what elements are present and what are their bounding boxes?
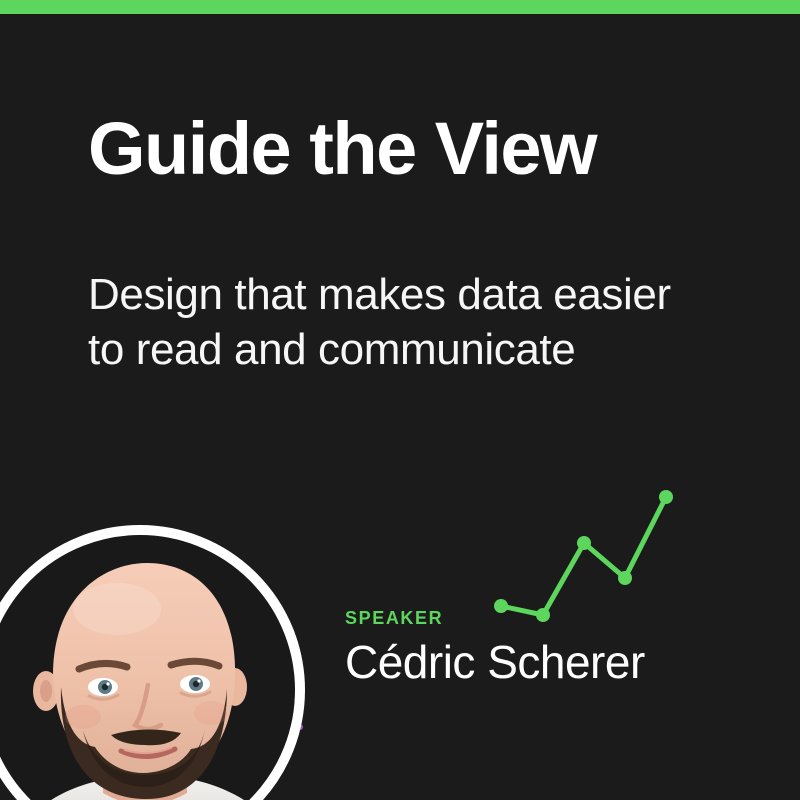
chart-point	[618, 571, 632, 585]
presentation-slide: Guide the View Design that makes data ea…	[0, 0, 800, 800]
avatar	[0, 525, 305, 800]
avatar-ring	[0, 525, 305, 800]
speaker-label: SPEAKER	[345, 608, 765, 629]
chart-point	[577, 536, 591, 550]
chart-point	[659, 490, 673, 504]
chart-line	[501, 497, 666, 615]
line-chart-graphic	[480, 478, 690, 628]
speaker-name: Cédric Scherer	[345, 629, 765, 688]
speaker-block: SPEAKER Cédric Scherer	[345, 608, 765, 688]
